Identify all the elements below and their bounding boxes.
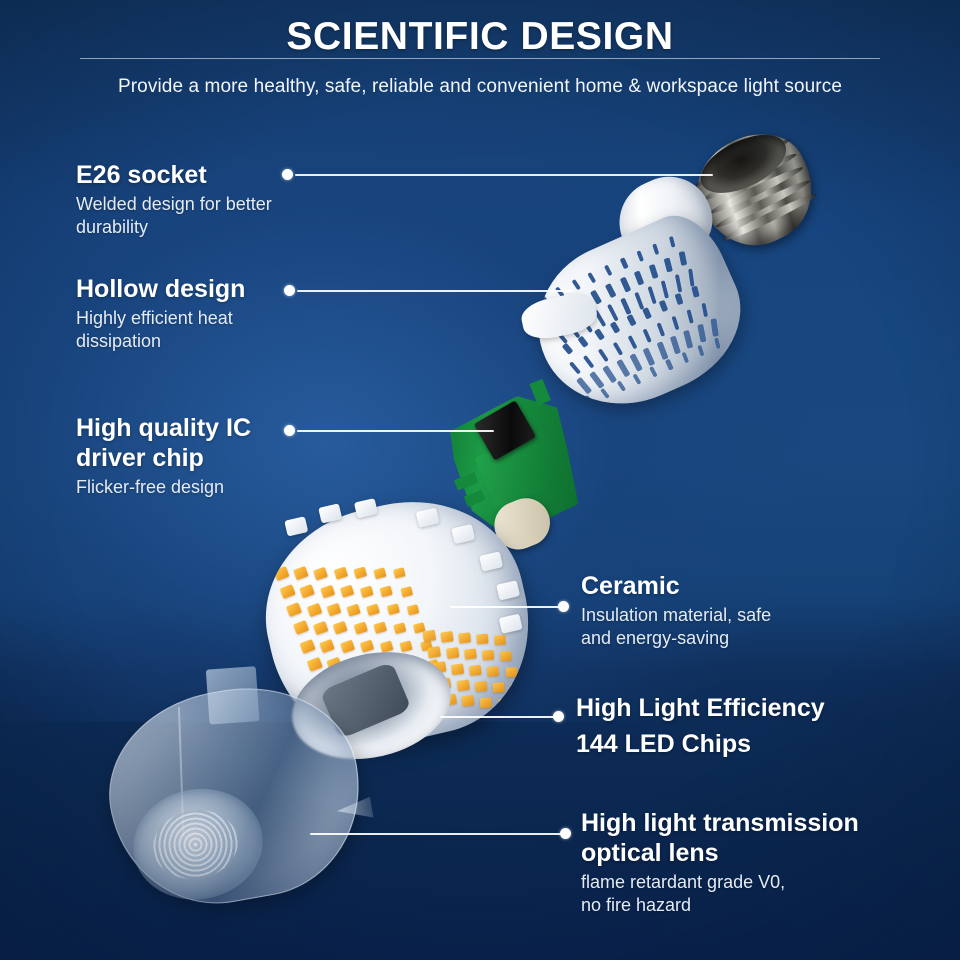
vent-slot (578, 336, 590, 349)
callout-heading: High light transmission optical lens (581, 808, 921, 868)
vent-slot (686, 309, 694, 324)
socket-thread (695, 136, 792, 189)
vent-slot (593, 309, 606, 326)
vent-slot (576, 377, 592, 394)
led-chip (400, 586, 413, 597)
led-chip (340, 639, 355, 653)
callout-subtext: flame retardant grade V0, no fire hazard (581, 871, 921, 917)
vent-slot (616, 359, 630, 377)
ceramic-tooth (354, 498, 378, 518)
connector-dot-high-light-efficiency (553, 711, 564, 722)
connector-line-high-light-efficiency (440, 716, 560, 718)
hollow-vented-housing-part (497, 169, 778, 438)
led-chip (313, 621, 328, 635)
vent-slot (605, 283, 617, 299)
vent-slot (584, 394, 595, 405)
led-chip (293, 566, 308, 580)
callout-subtext: Insulation material, safe and energy-sav… (581, 604, 901, 650)
led-chip (300, 584, 315, 598)
vent-slot (600, 387, 610, 399)
vent-slot (659, 300, 669, 313)
led-chip (393, 622, 406, 634)
vent-slot (619, 277, 630, 293)
vent-slot (665, 358, 674, 370)
pcb-pin (530, 379, 551, 405)
vent-slot (620, 257, 629, 269)
vent-slot (561, 343, 573, 356)
vent-slot (652, 243, 660, 255)
led-chip (320, 585, 335, 599)
led-chip (306, 657, 322, 672)
lens-tab (206, 666, 260, 724)
vent-slot (616, 380, 626, 392)
socket-body (682, 117, 830, 263)
housing-vent-cage (513, 203, 763, 432)
led-chip (360, 640, 374, 653)
vent-slot (587, 271, 597, 283)
socket-thread (714, 177, 811, 230)
callout-heading: Hollow design (76, 274, 306, 304)
led-chip (320, 639, 335, 653)
led-chip (373, 567, 386, 579)
led-chip (420, 641, 433, 652)
led-chip (474, 681, 487, 692)
callout-heading: E26 socket (76, 160, 306, 190)
callout-optical-lens[interactable]: High light transmission optical lens fla… (581, 808, 921, 917)
vent-slot (683, 330, 693, 349)
led-chip (353, 621, 367, 634)
ceramic-tooth (451, 524, 475, 544)
header: SCIENTIFIC DESIGN (0, 14, 960, 60)
led-chip (366, 658, 380, 671)
vent-slot (627, 335, 638, 350)
housing-neck (606, 163, 722, 272)
vent-slot (701, 302, 708, 317)
ceramic-tooth (498, 614, 522, 634)
capacitor (487, 491, 557, 556)
vent-slot (589, 371, 604, 389)
vent-slot (698, 344, 706, 356)
vent-slot (580, 315, 593, 332)
vent-slot (669, 236, 676, 248)
vent-slot (583, 354, 595, 368)
led-chip (380, 640, 394, 652)
vent-slot (643, 347, 656, 366)
ceramic-tooth (318, 504, 342, 524)
led-chip (347, 603, 361, 616)
led-chip (333, 567, 347, 580)
callout-hollow-design[interactable]: Hollow design Highly efficient heat diss… (76, 274, 306, 353)
vent-slot (671, 315, 680, 330)
vent-slot (691, 286, 700, 298)
ceramic-base-ring (282, 637, 462, 774)
vent-slot (539, 293, 550, 304)
led-chip (487, 666, 499, 677)
pcb-pin (454, 472, 479, 491)
led-chip (498, 698, 510, 709)
vent-slot (657, 322, 666, 337)
vent-slot (697, 324, 706, 343)
vent-slot (575, 296, 588, 311)
callout-subtext: Highly efficient heat dissipation (76, 307, 306, 353)
led-chip (427, 659, 440, 670)
led-chip (306, 602, 321, 616)
connector-line-ceramic (450, 606, 565, 608)
ceramic-tooth (479, 551, 503, 571)
led-chip (373, 622, 387, 634)
vent-slot (711, 318, 719, 336)
vent-slot (546, 309, 560, 324)
led-chip (427, 645, 441, 657)
led-chip (326, 657, 341, 671)
led-chip (313, 566, 328, 580)
vent-slot (678, 251, 687, 266)
vent-slot (561, 303, 575, 318)
vent-slot (636, 250, 644, 262)
led-chip (413, 622, 426, 633)
led-chip (443, 694, 457, 706)
vent-slot (647, 285, 657, 303)
vent-slot (634, 291, 644, 309)
lens-inner-reflector (124, 779, 271, 909)
page-subtitle: Provide a more healthy, safe, reliable a… (0, 76, 960, 98)
e26-metal-screw-base-part (682, 117, 830, 263)
vent-slot (664, 258, 673, 274)
vent-slot (568, 361, 581, 375)
lens-dome (94, 670, 377, 920)
led-chip (482, 650, 494, 661)
callout-e26-socket[interactable]: E26 socket Welded design for better dura… (76, 160, 306, 239)
vent-slot (649, 365, 658, 377)
vent-slot (610, 321, 621, 334)
pcb-component-block (475, 431, 563, 509)
lens-seam (178, 707, 185, 837)
connector-dot-optical-lens (560, 828, 571, 839)
led-ceramic-module-part (245, 479, 551, 766)
vent-slot (594, 328, 605, 341)
vent-slot (626, 314, 637, 327)
vent-slot (661, 280, 670, 298)
led-chip (353, 567, 367, 579)
led-chip (333, 621, 348, 635)
led-chip (480, 697, 493, 708)
led-chip (293, 620, 309, 635)
led-chip (495, 635, 507, 645)
infographic-canvas: SCIENTIFIC DESIGN Provide a more healthy… (0, 0, 960, 960)
vent-slot (612, 341, 623, 356)
led-chip (280, 584, 296, 599)
vent-slot (602, 365, 617, 383)
vent-slot (590, 290, 603, 306)
vent-slot (634, 270, 645, 286)
callout-subtext: Flicker-free design (76, 476, 296, 499)
ic-driver-board-part (427, 370, 617, 571)
led-chip (492, 682, 504, 693)
led-chip (380, 586, 393, 598)
vent-slot (649, 264, 659, 280)
socket-thread (701, 150, 798, 203)
led-chip (469, 664, 482, 675)
lens-edge-tip (335, 797, 373, 824)
pcb-pin (463, 490, 485, 508)
vent-slot (675, 293, 684, 306)
ceramic-tooth (496, 581, 520, 601)
led-chip (438, 678, 452, 690)
vent-slot (629, 353, 642, 371)
ceramic-tooth (284, 516, 308, 536)
vent-slot (642, 328, 652, 343)
led-chip (387, 604, 400, 616)
lens-fresnel-rings (148, 804, 243, 885)
led-chip (273, 566, 289, 581)
led-chip (400, 640, 413, 652)
led-chip (300, 639, 316, 654)
ceramic-tooth (415, 508, 439, 528)
led-chip (464, 648, 477, 659)
connector-line-hollow-design (297, 290, 572, 292)
socket-thread (721, 191, 818, 244)
vent-slot (607, 303, 619, 321)
led-chip (451, 663, 464, 675)
header-divider (80, 58, 880, 59)
led-chip (422, 629, 436, 641)
callout-subtext: Welded design for better durability (76, 193, 306, 239)
led-chip (440, 631, 453, 643)
housing-lip (518, 289, 599, 343)
vent-slot (553, 327, 568, 343)
callout-ceramic[interactable]: Ceramic Insulation material, safe and en… (581, 571, 901, 650)
vent-slot (566, 321, 580, 338)
led-chip (393, 568, 406, 579)
led-chip (462, 695, 475, 707)
led-chip (505, 667, 517, 677)
led-chip (360, 585, 374, 597)
led-chip (500, 651, 512, 661)
callout-heading: High quality IC driver chip (76, 413, 296, 473)
vent-slot (681, 351, 689, 363)
led-chip (446, 647, 459, 659)
led-chip (406, 659, 419, 671)
led-chip (340, 585, 354, 598)
callout-ic-driver-chip[interactable]: High quality IC driver chip Flicker-free… (76, 413, 296, 499)
vent-slot (620, 297, 631, 315)
led-chip (286, 602, 302, 617)
vent-slot (632, 373, 642, 385)
vent-slot (598, 348, 610, 362)
optical-lens-dome-part (94, 670, 377, 920)
vent-slot (642, 307, 652, 320)
vent-slot (656, 341, 668, 360)
ceramic-center-aperture (319, 661, 411, 739)
connector-line-e26-socket (295, 174, 713, 176)
led-chip (326, 603, 341, 617)
connector-line-ic-driver-chip (297, 430, 494, 432)
led-chip (367, 603, 381, 615)
connector-dot-ceramic (558, 601, 569, 612)
callout-heading: Ceramic (581, 571, 901, 601)
connector-line-optical-lens (310, 833, 567, 835)
vent-slot (714, 337, 721, 349)
callout-high-light-efficiency[interactable]: High Light Efficiency 144 LED Chips (576, 690, 906, 762)
led-chip (346, 658, 361, 672)
page-title: SCIENTIFIC DESIGN (0, 14, 960, 60)
led-chip (407, 604, 420, 615)
led-chip (476, 634, 488, 645)
led-chip (458, 632, 471, 643)
callout-heading: High Light Efficiency 144 LED Chips (576, 690, 906, 762)
led-chip (456, 679, 469, 691)
vent-slot (688, 268, 695, 286)
ceramic-drum-body (245, 479, 551, 766)
vent-slot (674, 274, 682, 292)
led-chip (433, 662, 447, 674)
socket-thread (708, 164, 805, 217)
vent-slot (571, 279, 581, 291)
led-chip (386, 658, 400, 670)
led-chip (511, 683, 523, 693)
vent-slot (670, 336, 681, 355)
pcb-substrate (439, 384, 596, 547)
vent-slot (604, 264, 613, 276)
socket-opening (692, 123, 794, 204)
